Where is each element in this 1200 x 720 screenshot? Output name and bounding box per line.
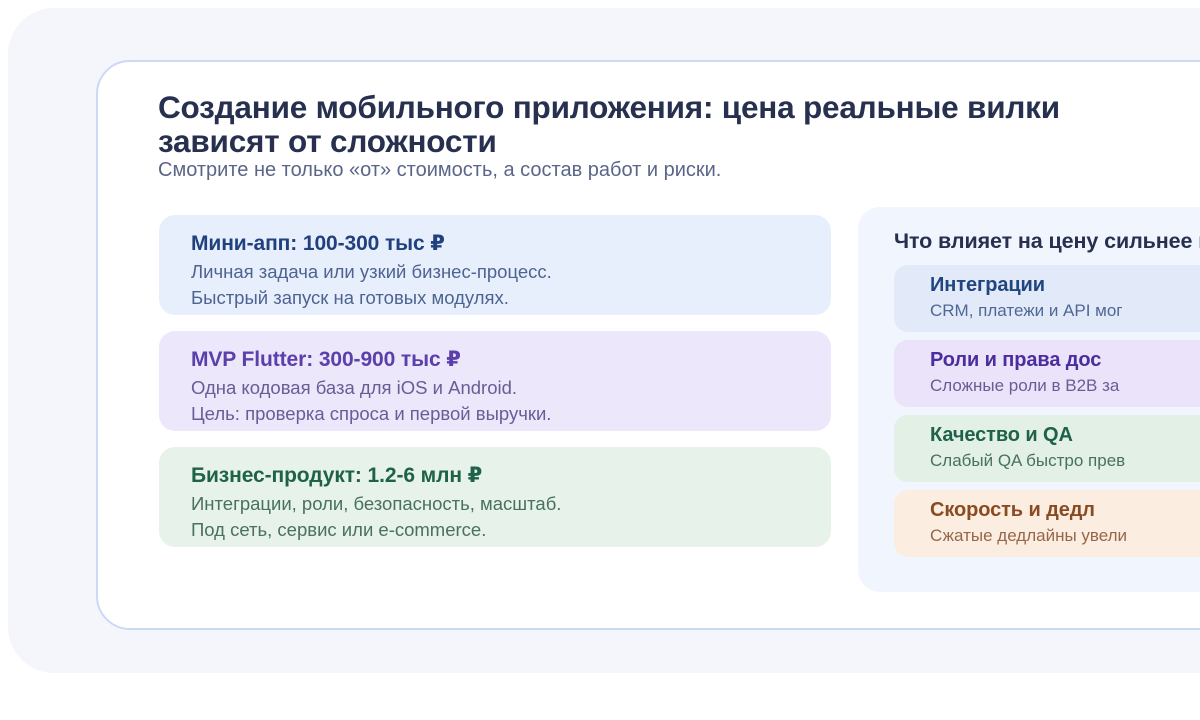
tier-title: Мини-апп: 100-300 тыс ₽ bbox=[191, 229, 799, 259]
tier-card-mvp-flutter[interactable]: MVP Flutter: 300-900 тыс ₽ Одна кодовая … bbox=[159, 331, 831, 431]
tier-description: Интеграции, роли, безопасность, масштаб.… bbox=[191, 491, 799, 543]
price-factors-title: Что влияет на цену сильнее всего bbox=[894, 227, 1200, 255]
tier-description: Одна кодовая база для iOS и Android. Цел… bbox=[191, 375, 799, 427]
factor-card-speed-and-deadlines[interactable]: Скорость и дедл Сжатые дедлайны увели bbox=[894, 490, 1200, 557]
factor-description: Сложные роли в B2B за bbox=[930, 374, 1200, 398]
factor-description: CRM, платежи и API мог bbox=[930, 299, 1200, 323]
factor-description: Слабый QA быстро прев bbox=[930, 449, 1200, 473]
page-subtitle: Смотрите не только «от» стоимость, а сос… bbox=[158, 157, 1158, 183]
price-tier-list: Мини-апп: 100-300 тыс ₽ Личная задача ил… bbox=[159, 215, 831, 563]
tier-title: MVP Flutter: 300-900 тыс ₽ bbox=[191, 345, 799, 375]
factor-card-quality-and-qa[interactable]: Качество и QA Слабый QA быстро прев bbox=[894, 415, 1200, 482]
content-card: Создание мобильного приложения: цена реа… bbox=[96, 60, 1200, 630]
tier-card-mini-app[interactable]: Мини-апп: 100-300 тыс ₽ Личная задача ил… bbox=[159, 215, 831, 315]
factor-card-roles-and-access[interactable]: Роли и права дос Сложные роли в B2B за bbox=[894, 340, 1200, 407]
factor-title: Роли и права дос bbox=[930, 347, 1200, 374]
price-factors-panel: Что влияет на цену сильнее всего Интегра… bbox=[858, 207, 1200, 592]
factor-title: Качество и QA bbox=[930, 422, 1200, 449]
factor-title: Скорость и дедл bbox=[930, 497, 1200, 524]
page-title: Создание мобильного приложения: цена реа… bbox=[158, 90, 1148, 158]
tier-title: Бизнес-продукт: 1.2-6 млн ₽ bbox=[191, 461, 799, 491]
factor-description: Сжатые дедлайны увели bbox=[930, 524, 1200, 548]
tier-description: Личная задача или узкий бизнес-процесс. … bbox=[191, 259, 799, 311]
outer-stage-panel: Создание мобильного приложения: цена реа… bbox=[8, 8, 1200, 673]
factor-title: Интеграции bbox=[930, 272, 1200, 299]
factor-card-integrations[interactable]: Интеграции CRM, платежи и API мог bbox=[894, 265, 1200, 332]
tier-card-business-product[interactable]: Бизнес-продукт: 1.2-6 млн ₽ Интеграции, … bbox=[159, 447, 831, 547]
